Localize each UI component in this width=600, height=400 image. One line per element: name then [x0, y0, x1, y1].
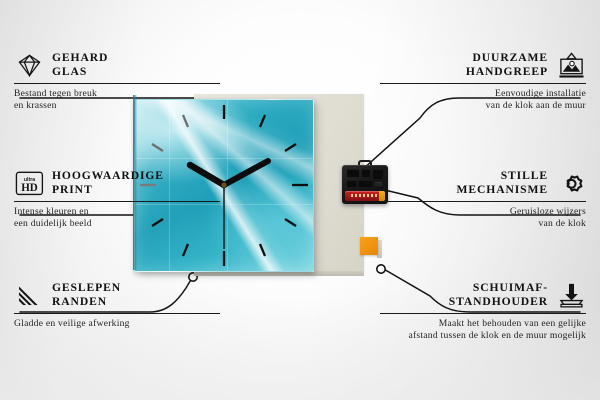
feature-title-line1: DUURZAME: [473, 51, 548, 64]
feature-title-line2: HANDGREEP: [466, 65, 548, 78]
feature-divider: [380, 313, 586, 314]
feature-description: Bestand tegen breuk en krassen: [14, 88, 220, 111]
feature-title: DUURZAME HANDGREEP: [466, 51, 548, 78]
feature-desc-line2: van de klok: [538, 218, 586, 229]
feature-desc-line1: Maakt het behouden van een gelijke: [439, 318, 586, 329]
feature-desc-line1: Intense kleuren en: [14, 206, 89, 217]
feature-desc-line2: afstand tussen de klok en de muur mogeli…: [408, 330, 586, 341]
picture-hanging-icon: [556, 50, 586, 80]
feature-desc-line2: en krassen: [14, 100, 57, 111]
feature-title-line1: HOOGWAARDIGE: [52, 169, 164, 182]
hands-center-cap: [221, 182, 226, 187]
feature-title-line1: SCHUIMAF-: [473, 281, 548, 294]
feature-title: SCHUIMAF- STANDHOUDER: [449, 281, 548, 308]
beveled-edge-icon: [14, 280, 44, 310]
feature-divider: [380, 83, 586, 84]
feature-desc-line1: Geruisloze wijzers: [510, 206, 586, 217]
feature-title-line1: GESLEPEN: [52, 281, 121, 294]
feature-desc-line2: van de klok aan de muur: [486, 100, 586, 111]
feature-title: GESLEPEN RANDEN: [52, 281, 121, 308]
feature-desc-line1: Bestand tegen breuk: [14, 88, 97, 99]
feature-divider: [14, 313, 220, 314]
feature-gehard-glas: GEHARD GLAS Bestand tegen breuk en krass…: [14, 50, 220, 111]
foam-spacer-pad: [360, 237, 382, 258]
feature-title-line2: GLAS: [52, 65, 87, 78]
feature-title-line1: STILLE: [501, 169, 548, 182]
arrow-down-into-stack-icon: [556, 280, 586, 310]
feature-title-line2: STANDHOUDER: [449, 295, 548, 308]
feature-schuimafstandhouder: SCHUIMAF- STANDHOUDER Maakt het behouden…: [380, 280, 586, 341]
ultra-hd-badge-icon: ultra HD: [14, 168, 44, 198]
feature-description: Intense kleuren en een duidelijk beeld: [14, 206, 220, 229]
feature-title-line1: GEHARD: [52, 51, 108, 64]
feature-description: Eenvoudige installatie van de klok aan d…: [380, 88, 586, 111]
diamond-icon: [14, 50, 44, 80]
feature-title: STILLE MECHANISME: [457, 169, 548, 196]
minute-hand: [224, 161, 268, 185]
feature-divider: [380, 201, 586, 202]
marker-dot-schuimafstandhouder: [377, 265, 385, 273]
feature-description: Maakt het behouden van een gelijke afsta…: [380, 318, 586, 341]
feature-title-line2: PRINT: [52, 183, 93, 196]
feature-title: GEHARD GLAS: [52, 51, 108, 78]
feature-duurzame-handgreep: DUURZAME HANDGREEP Eenvoudige installati…: [380, 50, 586, 111]
gear-icon: [556, 168, 586, 198]
feature-desc-line2: een duidelijk beeld: [14, 218, 92, 229]
feature-description: Gladde en veilige afwerking: [14, 318, 220, 330]
feature-geslepen-randen: GESLEPEN RANDEN Gladde en veilige afwerk…: [14, 280, 220, 330]
hd-label: HD: [21, 182, 38, 194]
feature-desc-line1: Eenvoudige installatie: [495, 88, 586, 99]
feature-hoogwaardige-print: ultra HD HOOGWAARDIGE PRINT Intense kleu…: [14, 168, 220, 229]
feature-title-line2: MECHANISME: [457, 183, 548, 196]
feature-desc-line1: Gladde en veilige afwerking: [14, 318, 130, 329]
feature-title: HOOGWAARDIGE PRINT: [52, 169, 164, 196]
feature-title-line2: RANDEN: [52, 295, 107, 308]
feature-description: Geruisloze wijzers van de klok: [380, 206, 586, 229]
feature-stille-mechanisme: STILLE MECHANISME Geruisloze wijzers van…: [380, 168, 586, 229]
infographic-canvas: GEHARD GLAS Bestand tegen breuk en krass…: [0, 0, 600, 400]
feature-divider: [14, 83, 220, 84]
aa-battery: [345, 191, 385, 201]
feature-divider: [14, 201, 220, 202]
